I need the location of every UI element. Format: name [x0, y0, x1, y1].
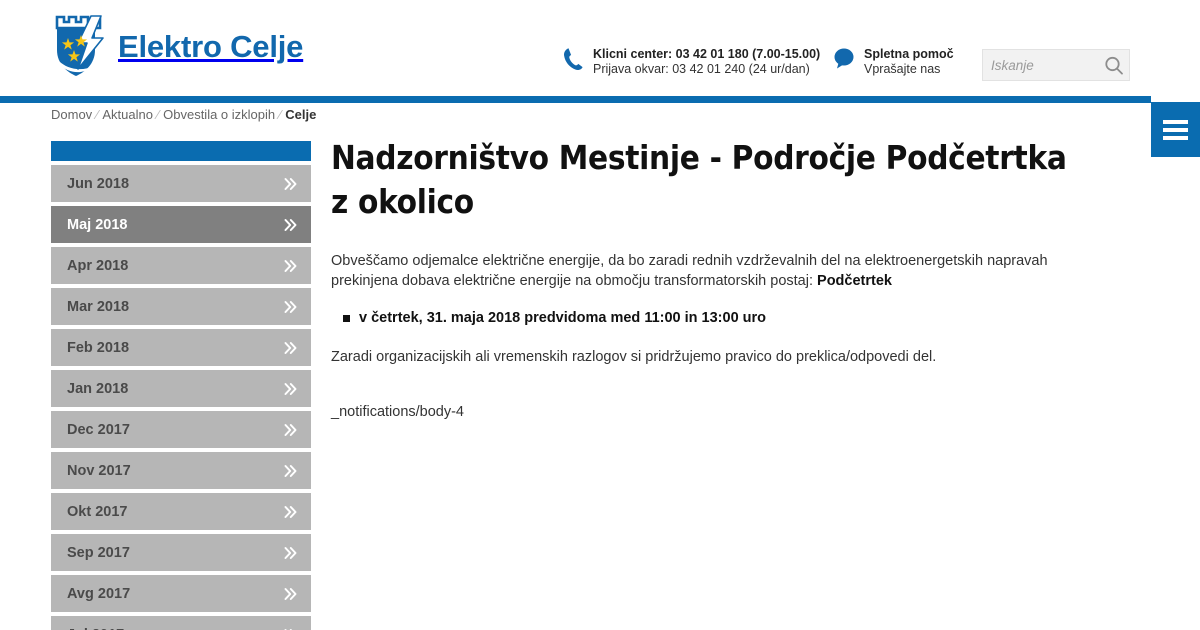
- sidebar-item-chevron: [283, 545, 299, 561]
- search-icon: [1103, 55, 1125, 77]
- sidebar-item-label: Jun 2018: [67, 176, 129, 192]
- breadcrumb-item-domov[interactable]: Domov: [51, 107, 92, 122]
- breadcrumb: Domov⁄Aktualno⁄Obvestila o izklopih⁄Celj…: [51, 107, 316, 122]
- sidebar-item-sep-2017[interactable]: Sep 2017: [51, 534, 311, 571]
- sidebar-item-label: Jan 2018: [67, 381, 128, 397]
- hamburger-bar-3: [1163, 136, 1188, 140]
- sidebar-item-jan-2018[interactable]: Jan 2018: [51, 370, 311, 407]
- header-blue-divider: [0, 96, 1151, 103]
- sidebar-item-chevron: [283, 381, 299, 397]
- sidebar-item-chevron: [283, 504, 299, 520]
- outage-intro-text: Obveščamo odjemalce električne energije,…: [331, 253, 1048, 290]
- double-chevron-right-icon: [283, 422, 299, 438]
- contact-phone-block[interactable]: Klicni center: 03 42 01 180 (7.00-15.00)…: [562, 46, 820, 76]
- disclaimer-paragraph: Zaradi organizacijskih ali vremenskih ra…: [331, 347, 1091, 368]
- outage-intro-paragraph: Obveščamo odjemalce električne energije,…: [331, 251, 1086, 292]
- sidebar-item-label: Jul 2017: [67, 627, 124, 630]
- double-chevron-right-icon: [283, 217, 299, 233]
- double-chevron-right-icon: [283, 381, 299, 397]
- sidebar-item-jul-2017[interactable]: Jul 2017: [51, 616, 311, 630]
- double-chevron-right-icon: [283, 627, 299, 630]
- sidebar-item-label: Feb 2018: [67, 340, 129, 356]
- page-title: Nadzorništvo Mestinje - Področje Podčetr…: [331, 136, 1076, 224]
- sidebar-item-chevron: [283, 340, 299, 356]
- phone-icon: [562, 46, 584, 72]
- sidebar-item-chevron: [283, 422, 299, 438]
- sidebar-item-feb-2018[interactable]: Feb 2018: [51, 329, 311, 366]
- outage-schedule-item: v četrtek, 31. maja 2018 predvidoma med …: [359, 308, 1091, 328]
- sidebar-header-bar: [51, 141, 311, 161]
- notifications-body-token: _notifications/body-4: [331, 404, 1091, 420]
- sidebar-item-label: Mar 2018: [67, 299, 129, 315]
- double-chevron-right-icon: [283, 586, 299, 602]
- sidebar-item-label: Maj 2018: [67, 217, 127, 233]
- brand-name: Elektro Celje: [118, 29, 303, 65]
- sidebar-item-avg-2017[interactable]: Avg 2017: [51, 575, 311, 612]
- hamburger-menu-button[interactable]: [1151, 102, 1200, 157]
- main-content: Nadzorništvo Mestinje - Področje Podčetr…: [331, 136, 1091, 420]
- breadcrumb-item-celje: Celje: [285, 107, 316, 122]
- outage-schedule-list: v četrtek, 31. maja 2018 predvidoma med …: [331, 308, 1091, 328]
- sidebar-item-chevron: [283, 258, 299, 274]
- breadcrumb-item-aktualno[interactable]: Aktualno: [102, 107, 153, 122]
- sidebar-item-label: Apr 2018: [67, 258, 128, 274]
- substation-name: Podčetrtek: [817, 273, 892, 289]
- double-chevron-right-icon: [283, 258, 299, 274]
- sidebar-item-jun-2018[interactable]: Jun 2018: [51, 165, 311, 202]
- page-root: Elektro Celje Klicni center: 03 42 01 18…: [0, 0, 1200, 630]
- sidebar-item-label: Sep 2017: [67, 545, 130, 561]
- double-chevron-right-icon: [283, 299, 299, 315]
- sidebar-item-chevron: [283, 217, 299, 233]
- sidebar-item-dec-2017[interactable]: Dec 2017: [51, 411, 311, 448]
- sidebar-item-label: Avg 2017: [67, 586, 130, 602]
- sidebar-month-archive: Jun 2018Maj 2018Apr 2018Mar 2018Feb 2018…: [51, 141, 311, 630]
- sidebar-item-label: Nov 2017: [67, 463, 131, 479]
- hamburger-bar-1: [1163, 120, 1188, 124]
- contact-phone-lines: Klicni center: 03 42 01 180 (7.00-15.00)…: [593, 46, 820, 76]
- chat-bubble-icon: [833, 46, 855, 72]
- sidebar-item-nov-2017[interactable]: Nov 2017: [51, 452, 311, 489]
- sidebar-item-label: Okt 2017: [67, 504, 127, 520]
- sidebar-item-chevron: [283, 463, 299, 479]
- search-input[interactable]: [983, 50, 1103, 80]
- online-help-subtitle: Vprašajte nas: [864, 62, 954, 77]
- sidebar-item-apr-2018[interactable]: Apr 2018: [51, 247, 311, 284]
- call-center-line: Klicni center: 03 42 01 180 (7.00-15.00): [593, 47, 820, 62]
- online-help-title: Spletna pomoč: [864, 47, 954, 62]
- sidebar-item-okt-2017[interactable]: Okt 2017: [51, 493, 311, 530]
- search-button[interactable]: [1103, 55, 1125, 77]
- double-chevron-right-icon: [283, 340, 299, 356]
- sidebar-item-mar-2018[interactable]: Mar 2018: [51, 288, 311, 325]
- breadcrumb-separator: ⁄: [275, 107, 285, 122]
- site-header: Elektro Celje Klicni center: 03 42 01 18…: [0, 0, 1200, 96]
- double-chevron-right-icon: [283, 463, 299, 479]
- sidebar-item-label: Dec 2017: [67, 422, 130, 438]
- sidebar-item-chevron: [283, 176, 299, 192]
- search-box[interactable]: [982, 49, 1130, 81]
- sidebar-item-list: Jun 2018Maj 2018Apr 2018Mar 2018Feb 2018…: [51, 165, 311, 630]
- shield-castle-stars-lightning-logo-icon: [51, 14, 107, 80]
- contact-chat-block[interactable]: Spletna pomoč Vprašajte nas: [833, 46, 954, 76]
- double-chevron-right-icon: [283, 504, 299, 520]
- sidebar-item-chevron: [283, 299, 299, 315]
- fault-report-line: Prijava okvar: 03 42 01 240 (24 ur/dan): [593, 62, 820, 77]
- sidebar-item-chevron: [283, 586, 299, 602]
- hamburger-bar-2: [1163, 128, 1188, 132]
- sidebar-item-chevron: [283, 627, 299, 630]
- double-chevron-right-icon: [283, 176, 299, 192]
- sidebar-item-maj-2018[interactable]: Maj 2018: [51, 206, 311, 243]
- breadcrumb-item-obvestila-o-izklopih[interactable]: Obvestila o izklopih: [163, 107, 275, 122]
- contact-chat-lines: Spletna pomoč Vprašajte nas: [864, 46, 954, 76]
- double-chevron-right-icon: [283, 545, 299, 561]
- site-logo-link[interactable]: Elektro Celje: [51, 14, 303, 80]
- breadcrumb-separator: ⁄: [153, 107, 163, 122]
- breadcrumb-separator: ⁄: [92, 107, 102, 122]
